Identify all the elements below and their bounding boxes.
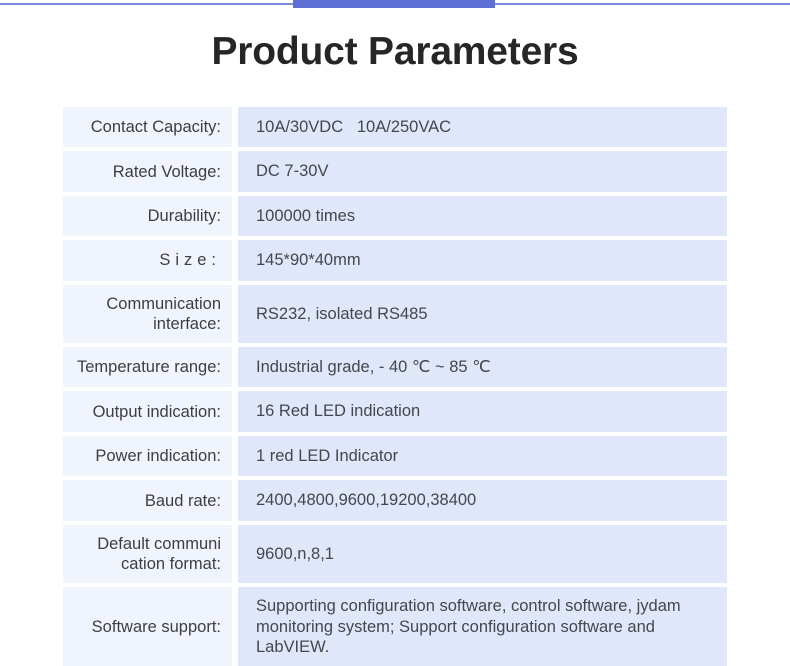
- parameter-label: Size:: [63, 240, 232, 280]
- table-row: Output indication:16 Red LED indication: [63, 391, 727, 431]
- table-row: Rated Voltage:DC 7-30V: [63, 151, 727, 191]
- table-row: Baud rate:2400,4800,9600,19200,38400: [63, 480, 727, 520]
- page-title: Product Parameters: [0, 10, 790, 73]
- parameter-value: 145*90*40mm: [238, 240, 727, 280]
- parameter-value: Industrial grade, - 40 ℃ ~ 85 ℃: [238, 347, 727, 387]
- parameter-value: 16 Red LED indication: [238, 391, 727, 431]
- parameter-label: Output indication:: [63, 391, 232, 431]
- parameter-label: Durability:: [63, 196, 232, 236]
- table-row: Software support:Supporting configuratio…: [63, 587, 727, 666]
- parameter-label: Contact Capacity:: [63, 107, 232, 147]
- table-row: Temperature range:Industrial grade, - 40…: [63, 347, 727, 387]
- parameter-value: 10A/30VDC 10A/250VAC: [238, 107, 727, 147]
- table-row: Contact Capacity:10A/30VDC 10A/250VAC: [63, 107, 727, 147]
- parameter-label: Software support:: [63, 587, 232, 666]
- table-row: Durability:100000 times: [63, 196, 727, 236]
- table-row: Power indication:1 red LED Indicator: [63, 436, 727, 476]
- table-row: Default communi cation format:9600,n,8,1: [63, 525, 727, 583]
- parameter-label: Baud rate:: [63, 480, 232, 520]
- product-parameters-table: Contact Capacity:10A/30VDC 10A/250VACRat…: [0, 73, 790, 666]
- parameter-value: RS232, isolated RS485: [238, 285, 727, 343]
- top-accent-bar: [0, 0, 790, 10]
- parameter-label: Temperature range:: [63, 347, 232, 387]
- parameter-label: Default communi cation format:: [63, 525, 232, 583]
- parameter-label: Communication interface:: [63, 285, 232, 343]
- table-row: Size:145*90*40mm: [63, 240, 727, 280]
- parameter-value: 2400,4800,9600,19200,38400: [238, 480, 727, 520]
- parameter-value: 100000 times: [238, 196, 727, 236]
- table-row: Communication interface:RS232, isolated …: [63, 285, 727, 343]
- parameter-value: 1 red LED Indicator: [238, 436, 727, 476]
- parameter-value: Supporting configuration software, contr…: [238, 587, 727, 666]
- parameter-value: 9600,n,8,1: [238, 525, 727, 583]
- accent-center-segment: [293, 0, 495, 8]
- parameter-label: Rated Voltage:: [63, 151, 232, 191]
- parameter-value: DC 7-30V: [238, 151, 727, 191]
- parameter-label: Power indication:: [63, 436, 232, 476]
